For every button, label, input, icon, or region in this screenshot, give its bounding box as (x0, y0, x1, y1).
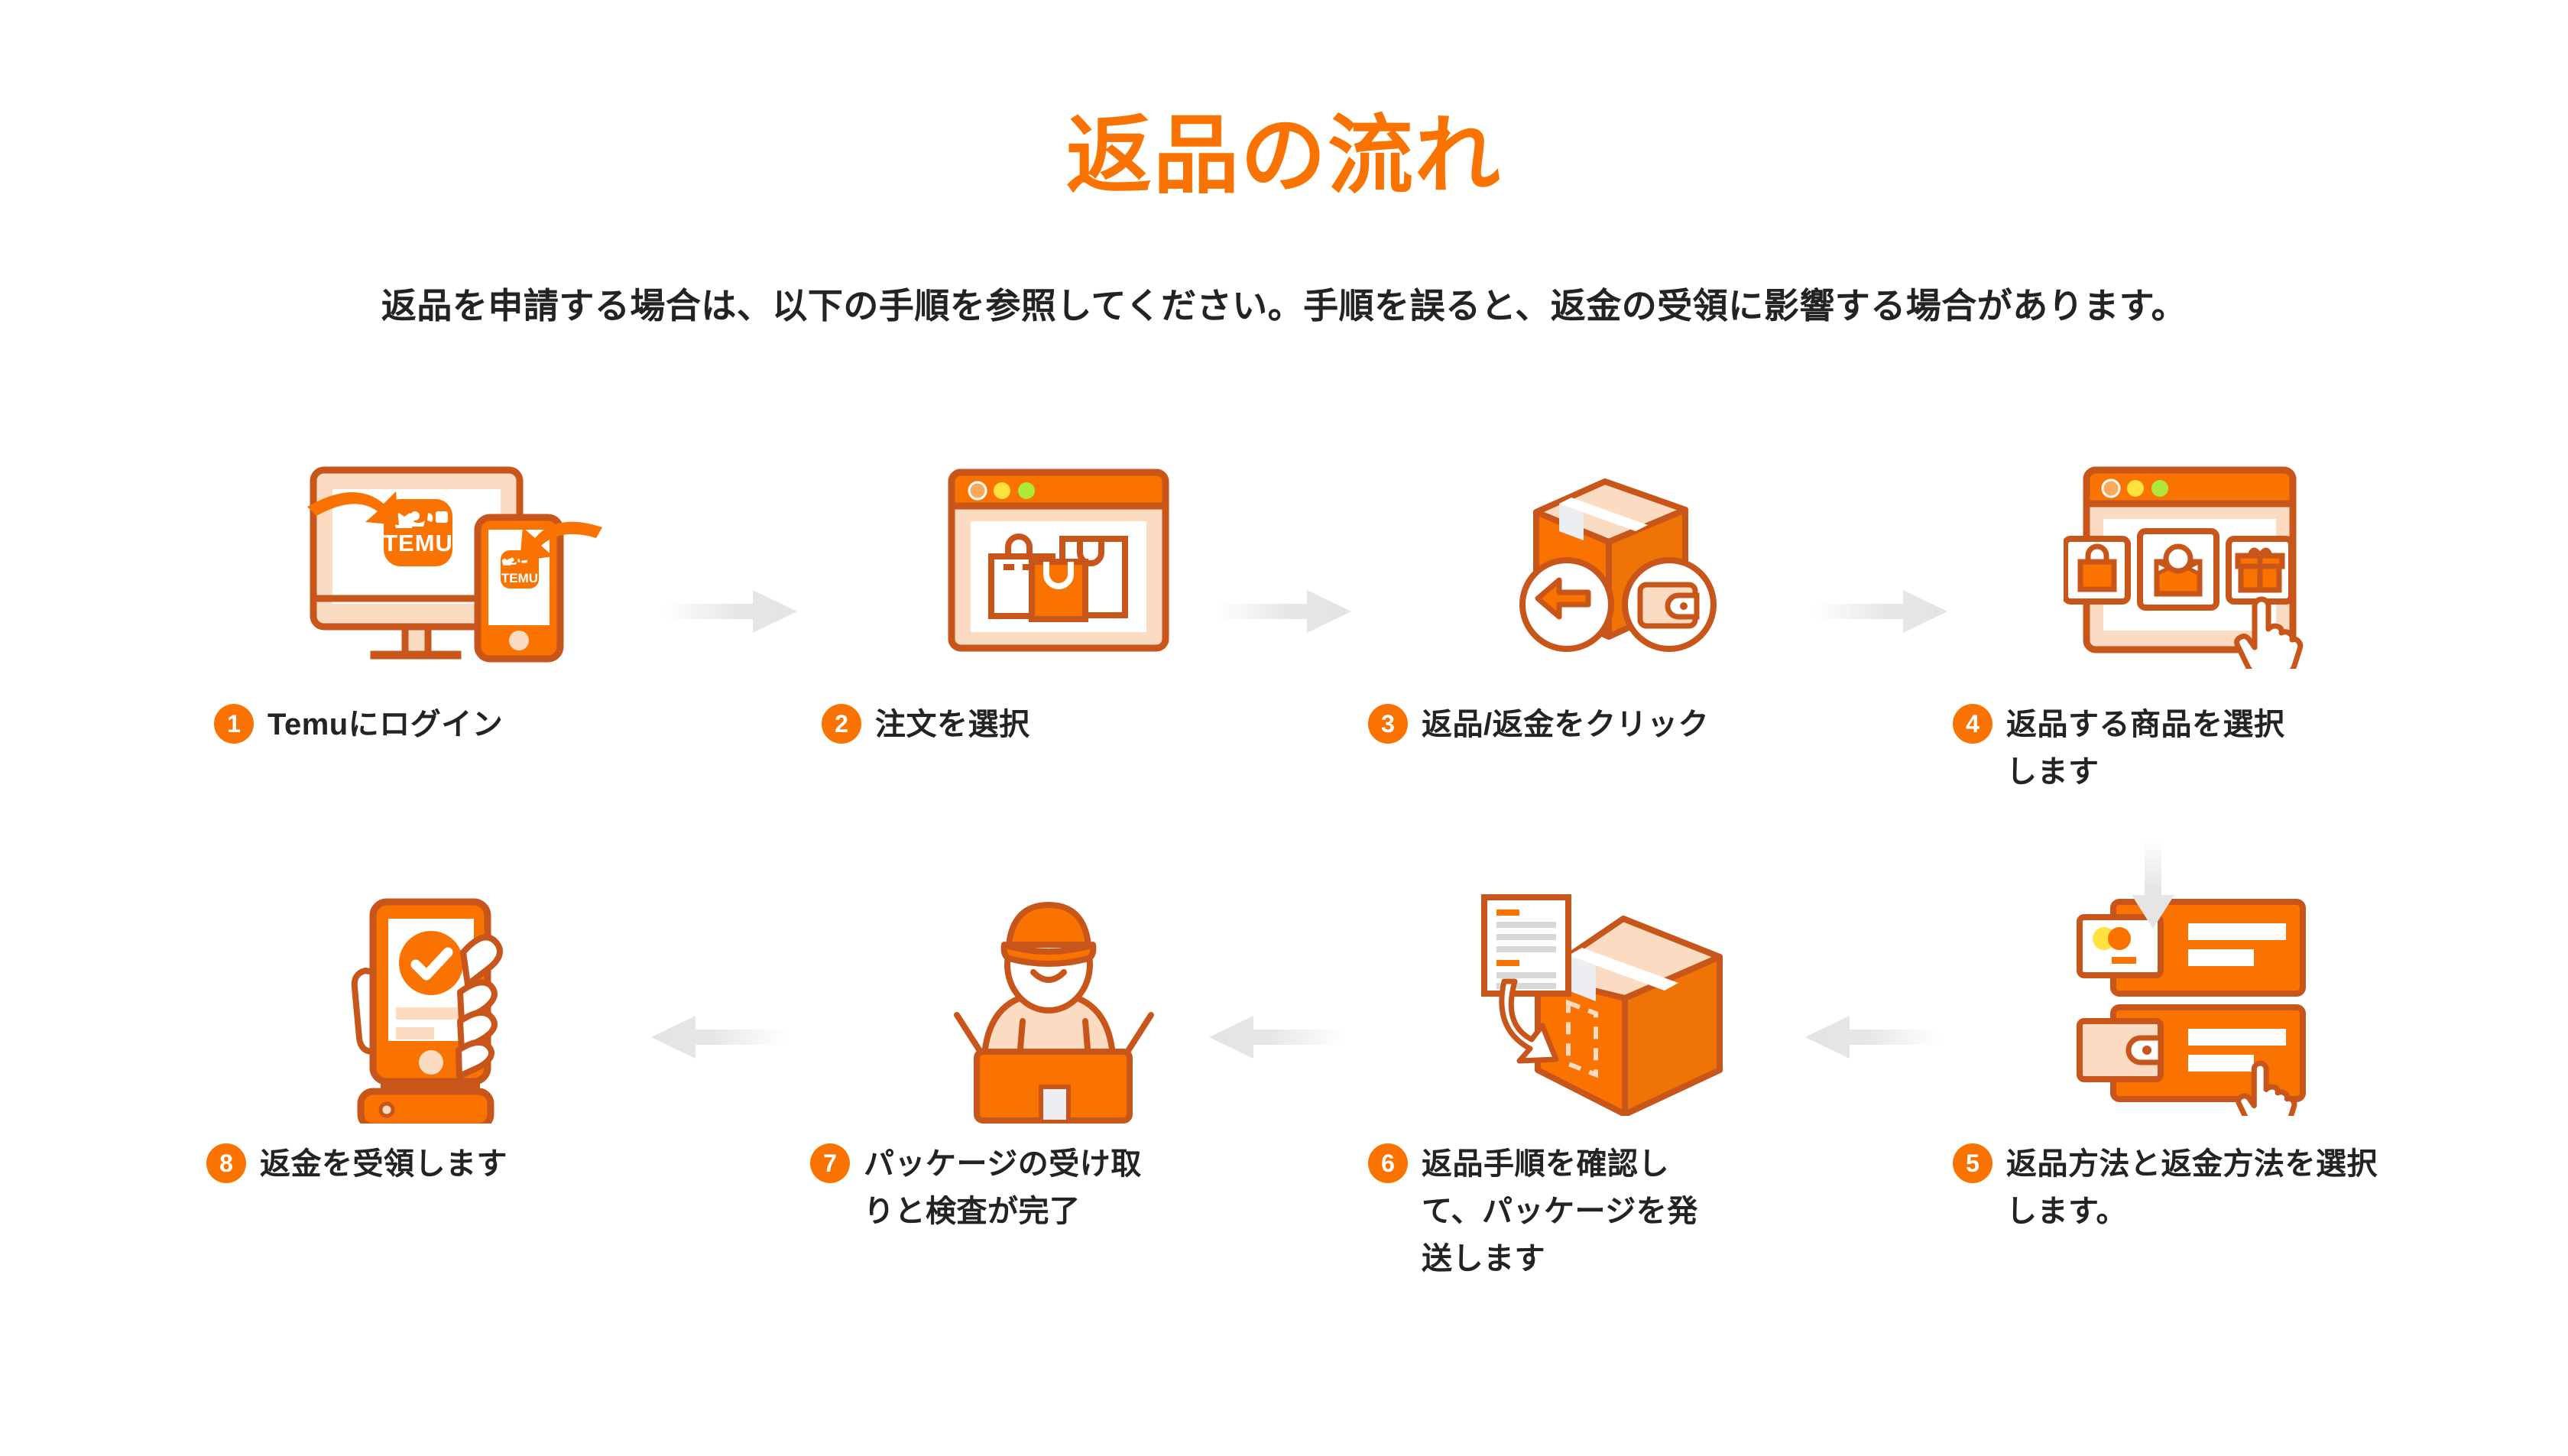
svg-text:TEMU: TEMU (383, 530, 453, 556)
page-subtitle: 返品を申請する場合は、以下の手順を参照してください。手順を誤ると、返金の受領に影… (0, 281, 2568, 330)
step-1-caption: 1 Temuにログイン (214, 684, 688, 748)
arrow-4-to-5 (2129, 837, 2177, 929)
page-title: 返品の流れ (0, 107, 2568, 206)
return-flow-infographic: 返品の流れ 返品を申請する場合は、以下の手順を参照してください。手順を誤ると、返… (0, 0, 2568, 1456)
steps-row-bottom: 8 返金を受領します (0, 879, 2568, 1307)
step-2-label: 注文を選択 (875, 701, 1030, 748)
step-6: 6 返品手順を確認して、パッケージを発送します (1368, 879, 1842, 1283)
step-2-badge: 2 (822, 704, 861, 744)
step-3-badge: 3 (1368, 704, 1408, 744)
svg-text:TEMU: TEMU (501, 571, 538, 585)
arrow-6-to-7 (1208, 1013, 1345, 1062)
step-7-badge: 7 (810, 1143, 850, 1183)
arrow-3-to-4 (1811, 587, 1949, 636)
arrow-5-to-6 (1804, 1013, 1941, 1062)
step-3: 3 返品/返金をクリック (1368, 439, 1842, 748)
phone-refund-check-icon (206, 879, 680, 1124)
return-refund-box-icon (1368, 439, 1842, 684)
step-5: 5 返品方法と返金方法を選択します。 (1953, 879, 2427, 1235)
arrow-2-to-3 (1215, 587, 1353, 636)
step-8-badge: 8 (206, 1143, 246, 1183)
login-devices-icon: TEMU TEMU (214, 439, 688, 684)
step-7-caption: 7 パッケージの受け取りと検査が完了 (810, 1124, 1284, 1235)
step-6-badge: 6 (1368, 1143, 1408, 1183)
step-1-label: Temuにログイン (267, 701, 503, 748)
pack-and-ship-icon (1368, 879, 1842, 1124)
step-3-label: 返品/返金をクリック (1422, 701, 1709, 748)
arrow-7-to-8 (650, 1013, 787, 1062)
warehouse-inspect-icon (810, 879, 1284, 1124)
step-5-label: 返品方法と返金方法を選択します。 (2006, 1140, 2404, 1235)
step-4-badge: 4 (1953, 704, 1992, 744)
step-4-caption: 4 返品する商品を選択します (1953, 684, 2427, 796)
step-8: 8 返金を受領します (206, 879, 680, 1188)
step-6-caption: 6 返品手順を確認して、パッケージを発送します (1368, 1124, 1842, 1283)
step-7-label: パッケージの受け取りと検査が完了 (864, 1140, 1169, 1235)
step-5-badge: 5 (1953, 1143, 1992, 1183)
step-6-label: 返品手順を確認して、パッケージを発送します (1422, 1140, 1727, 1283)
step-8-caption: 8 返金を受領します (206, 1124, 680, 1188)
step-5-caption: 5 返品方法と返金方法を選択します。 (1953, 1124, 2427, 1235)
step-3-caption: 3 返品/返金をクリック (1368, 684, 1842, 748)
step-1: TEMU TEMU (214, 439, 688, 748)
step-2-caption: 2 注文を選択 (822, 684, 1295, 748)
browser-orders-icon (822, 439, 1295, 684)
step-8-label: 返金を受領します (260, 1140, 507, 1188)
step-4-label: 返品する商品を選択します (2006, 701, 2312, 796)
payment-method-icon (1953, 879, 2427, 1124)
select-product-icon (1953, 439, 2427, 684)
step-1-badge: 1 (214, 704, 254, 744)
arrow-1-to-2 (661, 587, 799, 636)
step-4: 4 返品する商品を選択します (1953, 439, 2427, 796)
